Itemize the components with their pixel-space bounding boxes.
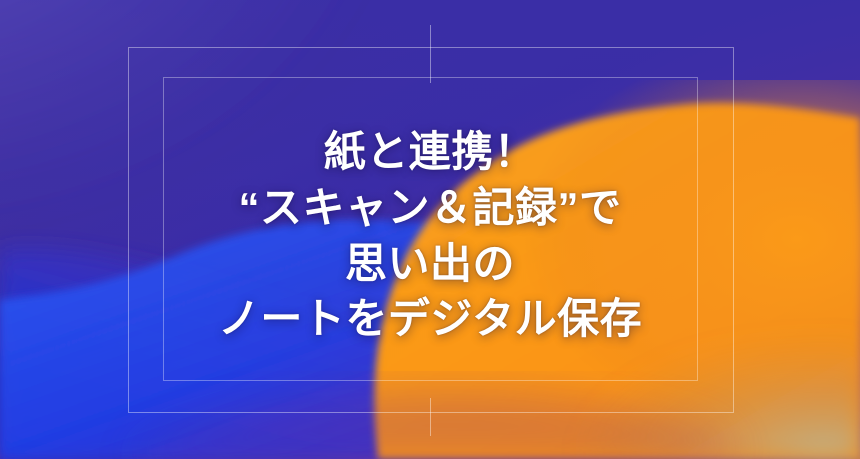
headline-line-4: ノートをデジタル保存: [218, 291, 642, 347]
promo-banner: 紙と連携！ “スキャン＆記録”で 思い出の ノートをデジタル保存: [0, 0, 860, 459]
headline-line-1: 紙と連携！: [324, 124, 537, 180]
headline: 紙と連携！ “スキャン＆記録”で 思い出の ノートをデジタル保存: [0, 0, 860, 459]
headline-line-3: 思い出の: [345, 236, 515, 292]
headline-line-2: “スキャン＆記録”で: [238, 180, 621, 236]
